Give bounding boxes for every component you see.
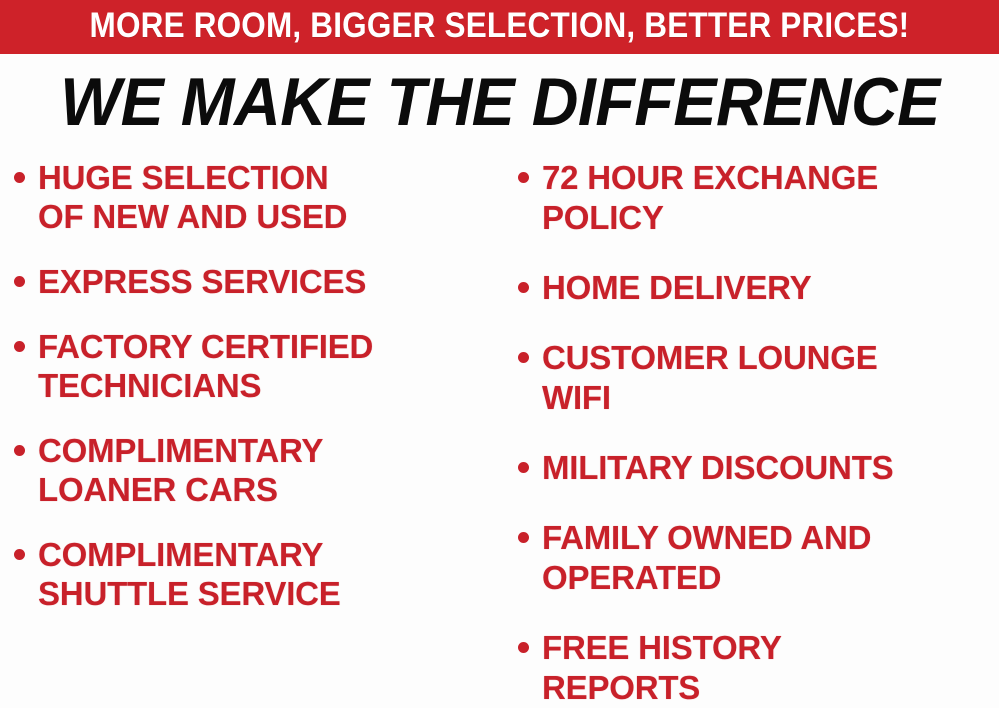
list-item: EXPRESS SERVICES	[14, 262, 504, 301]
list-item: 72 HOUR EXCHANGE POLICY	[518, 158, 999, 238]
bullet-dot-icon	[14, 341, 25, 352]
promo-banner-text: MORE ROOM, BIGGER SELECTION, BETTER PRIC…	[90, 8, 910, 43]
list-item-label: 72 HOUR EXCHANGE POLICY	[542, 158, 999, 238]
list-item-label: FREE HISTORY REPORTS	[542, 628, 999, 708]
headline-text: WE MAKE THE DIFFERENCE	[60, 68, 940, 136]
list-item: COMPLIMENTARY LOANER CARS	[14, 431, 504, 509]
bullet-dot-icon	[14, 445, 25, 456]
advertisement-banner-graphic: MORE ROOM, BIGGER SELECTION, BETTER PRIC…	[0, 0, 999, 692]
list-item-label: HOME DELIVERY	[542, 268, 999, 308]
bullet-dot-icon	[518, 352, 529, 363]
list-item: FREE HISTORY REPORTS	[518, 628, 999, 708]
list-item-label: FACTORY CERTIFIED TECHNICIANS	[38, 327, 504, 405]
feature-column-right: 72 HOUR EXCHANGE POLICY HOME DELIVERY CU…	[518, 158, 999, 692]
list-item-label: COMPLIMENTARY SHUTTLE SERVICE	[38, 535, 504, 613]
list-item-label: EXPRESS SERVICES	[38, 262, 504, 301]
bullet-dot-icon	[518, 282, 529, 293]
list-item-label: COMPLIMENTARY LOANER CARS	[38, 431, 504, 509]
list-item: FACTORY CERTIFIED TECHNICIANS	[14, 327, 504, 405]
list-item: HOME DELIVERY	[518, 268, 999, 308]
list-item-label: HUGE SELECTION OF NEW AND USED	[38, 158, 504, 236]
bullet-dot-icon	[518, 532, 529, 543]
promo-banner-bar: MORE ROOM, BIGGER SELECTION, BETTER PRIC…	[0, 0, 999, 54]
bullet-dot-icon	[518, 172, 529, 183]
bullet-dot-icon	[14, 276, 25, 287]
bullet-dot-icon	[518, 642, 529, 653]
bullet-dot-icon	[518, 462, 529, 473]
list-item: MILITARY DISCOUNTS	[518, 448, 999, 488]
headline: WE MAKE THE DIFFERENCE	[0, 68, 999, 136]
bullet-dot-icon	[14, 549, 25, 560]
list-item-label: CUSTOMER LOUNGE WIFI	[542, 338, 999, 418]
list-item: HUGE SELECTION OF NEW AND USED	[14, 158, 504, 236]
feature-column-left: HUGE SELECTION OF NEW AND USED EXPRESS S…	[14, 158, 504, 692]
list-item: FAMILY OWNED AND OPERATED	[518, 518, 999, 598]
bullet-dot-icon	[14, 172, 25, 183]
list-item: COMPLIMENTARY SHUTTLE SERVICE	[14, 535, 504, 613]
list-item-label: MILITARY DISCOUNTS	[542, 448, 999, 488]
feature-columns: HUGE SELECTION OF NEW AND USED EXPRESS S…	[0, 158, 999, 692]
list-item-label: FAMILY OWNED AND OPERATED	[542, 518, 999, 598]
list-item: CUSTOMER LOUNGE WIFI	[518, 338, 999, 418]
